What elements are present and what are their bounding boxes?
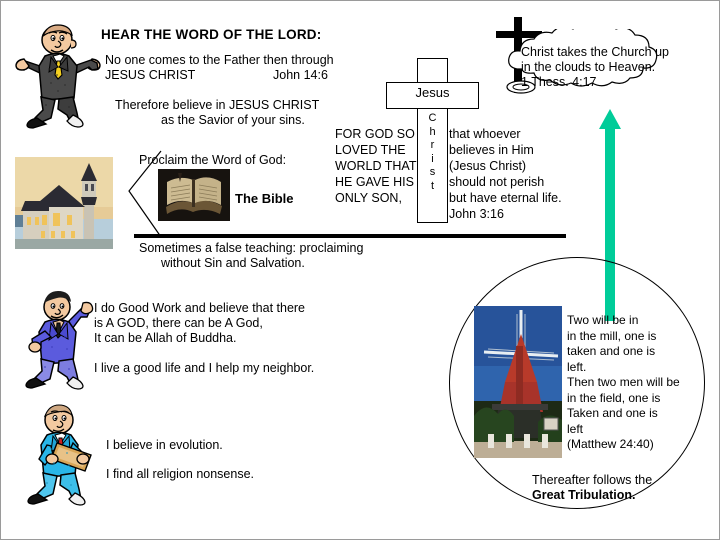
gospel-line-3: Therefore believe in JESUS CHRIST: [115, 98, 319, 113]
christ-letter-i: i: [417, 153, 448, 167]
good-works-line-2: is A GOD, there can be A God,: [94, 316, 263, 331]
christ-letter-s: s: [417, 166, 448, 180]
church-photo-art: [15, 157, 113, 249]
tribulation-line-2: Great Tribulation.: [532, 488, 636, 503]
slide-canvas: HEAR THE WORD OF THE LORD:: [0, 0, 720, 540]
atheist-line-2: I find all religion nonsense.: [106, 467, 254, 482]
atheist-person-illustration: [17, 401, 109, 511]
good-works-line-3: It can be Allah of Buddha.: [94, 331, 236, 346]
proclaim-label: Proclaim the Word of God:: [139, 153, 286, 168]
bible-photo-art: [158, 169, 230, 221]
gospel-line-2: JESUS CHRIST: [105, 68, 195, 83]
cross-christ-label: C h r i s t: [417, 112, 448, 193]
section-divider: [134, 234, 566, 238]
gospel-line-1: No one comes to the Father then through: [105, 53, 334, 68]
tribulation-line-1: Thereafter follows the: [532, 473, 652, 488]
false-teaching-line-1: Sometimes a false teaching: proclaiming: [139, 241, 363, 256]
christ-letter-t: t: [417, 180, 448, 194]
good-works-person-svg: [17, 287, 103, 395]
gospel-line-4: as the Savior of your sins.: [161, 113, 305, 128]
good-works-line-1: I do Good Work and believe that there: [94, 301, 305, 316]
cloud-line-1: Christ takes the Church up: [521, 45, 669, 60]
page-title: HEAR THE WORD OF THE LORD:: [101, 27, 321, 42]
preacher-illustration: [13, 23, 105, 135]
false-teaching-line-2: without Sin and Salvation.: [161, 256, 305, 271]
bible-label: The Bible: [235, 191, 294, 206]
cross-jesus-label: Jesus: [386, 85, 479, 100]
windmill-photo-art: [474, 306, 562, 458]
church-photo: [15, 157, 113, 249]
john316-right-text: that whoever believes in Him (Jesus Chri…: [449, 126, 562, 222]
cloud-line-2: in the clouds to Heaven.: [521, 60, 655, 75]
christ-letter-h: h: [417, 126, 448, 140]
atheist-person-svg: [17, 401, 109, 511]
cloud-reference: 1 Thess. 4:17: [521, 75, 597, 90]
preacher-svg: [13, 23, 105, 135]
bible-photo: [158, 169, 230, 221]
john316-left-text: FOR GOD SO LOVED THE WORLD THAT HE GAVE …: [335, 126, 416, 206]
christ-letter-c: C: [417, 112, 448, 126]
christ-letter-r: r: [417, 139, 448, 153]
atheist-line-1: I believe in evolution.: [106, 438, 223, 453]
good-works-person-illustration: [17, 287, 103, 395]
matthew-rapture-text: Two will be in in the mill, one is taken…: [567, 313, 680, 453]
gospel-reference: John 14:6: [273, 68, 328, 83]
good-works-line-4: I live a good life and I help my neighbo…: [94, 361, 314, 376]
windmill-photo: [474, 306, 562, 458]
